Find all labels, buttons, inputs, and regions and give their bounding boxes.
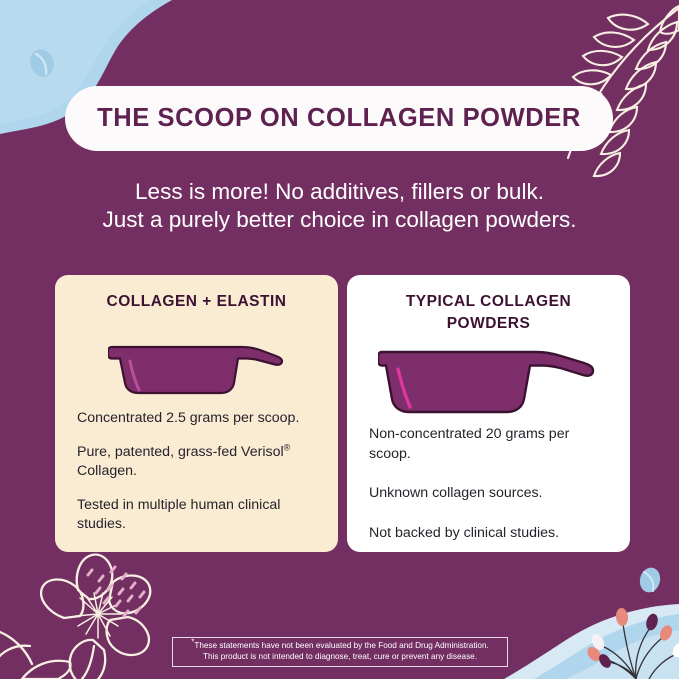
- card-right-bullets: Non-concentrated 20 grams per scoop. Unk…: [369, 425, 608, 543]
- list-item: Non-concentrated 20 grams per scoop.: [369, 425, 608, 464]
- card-left-heading: COLLAGEN + ELASTIN: [77, 291, 316, 313]
- bud-white-icon: [589, 632, 607, 652]
- disclaimer-line-2: This product is not intended to diagnose…: [179, 652, 501, 663]
- measuring-scoop-small-icon: [108, 339, 286, 399]
- bud-white-icon-2: [670, 640, 679, 659]
- bottom-left-flower-decoration: [0, 555, 150, 679]
- bottom-right-blue-wave-decoration: [504, 565, 679, 679]
- disclaimer-box: *These statements have not been evaluate…: [172, 637, 508, 667]
- card-right-heading-line-1: TYPICAL COLLAGEN: [369, 291, 608, 313]
- bottom-right-buds-decoration: [585, 607, 679, 679]
- title-banner: THE SCOOP ON COLLAGEN POWDER: [65, 86, 613, 151]
- bud-plum-icon-2: [597, 652, 614, 670]
- bullet-text-after: Collagen.: [77, 463, 137, 479]
- bud-pink-icon-3: [585, 644, 604, 663]
- bottom-left-dashes-decoration: [88, 567, 144, 616]
- card-right-heading-line-2: POWDERS: [369, 313, 608, 335]
- blue-petal-icon: [27, 46, 58, 80]
- blue-petal-icon-2: [637, 565, 662, 594]
- list-item: Pure, patented, grass-fed Verisol® Colla…: [77, 443, 316, 482]
- subtitle-line-1: Less is more! No additives, fillers or b…: [0, 178, 679, 206]
- subtitle-line-2: Just a purely better choice in collagen …: [0, 206, 679, 234]
- list-item: Not backed by clinical studies.: [369, 524, 608, 544]
- list-item: Unknown collagen sources.: [369, 484, 608, 504]
- list-item: Concentrated 2.5 grams per scoop.: [77, 409, 316, 429]
- card-left-heading-line-1: COLLAGEN + ELASTIN: [77, 291, 316, 313]
- registered-mark: ®: [284, 442, 291, 452]
- card-collagen-elastin: COLLAGEN + ELASTIN Concentrated 2.5 gram…: [55, 275, 338, 552]
- card-left-bullets: Concentrated 2.5 grams per scoop. Pure, …: [77, 409, 316, 535]
- bullet-text: Pure, patented, grass-fed Verisol: [77, 444, 284, 460]
- bud-pink-icon-2: [658, 623, 675, 642]
- measuring-scoop-large-icon: [378, 345, 600, 415]
- card-right-scoop-wrap: [369, 337, 608, 415]
- card-typical-collagen-powders: TYPICAL COLLAGEN POWDERS Non-concentrate…: [347, 275, 630, 552]
- subtitle: Less is more! No additives, fillers or b…: [0, 178, 679, 234]
- card-right-heading: TYPICAL COLLAGEN POWDERS: [369, 291, 608, 335]
- infographic-canvas: THE SCOOP ON COLLAGEN POWDER Less is mor…: [0, 0, 679, 679]
- disclaimer-line-1: *These statements have not been evaluate…: [179, 641, 501, 652]
- disclaimer-text-1: These statements have not been evaluated…: [194, 641, 488, 650]
- list-item: Tested in multiple human clinical studie…: [77, 496, 316, 535]
- bud-pink-icon: [615, 607, 629, 626]
- bud-plum-icon: [644, 612, 659, 631]
- page-title: THE SCOOP ON COLLAGEN POWDER: [97, 104, 581, 133]
- card-left-scoop-wrap: [77, 315, 316, 399]
